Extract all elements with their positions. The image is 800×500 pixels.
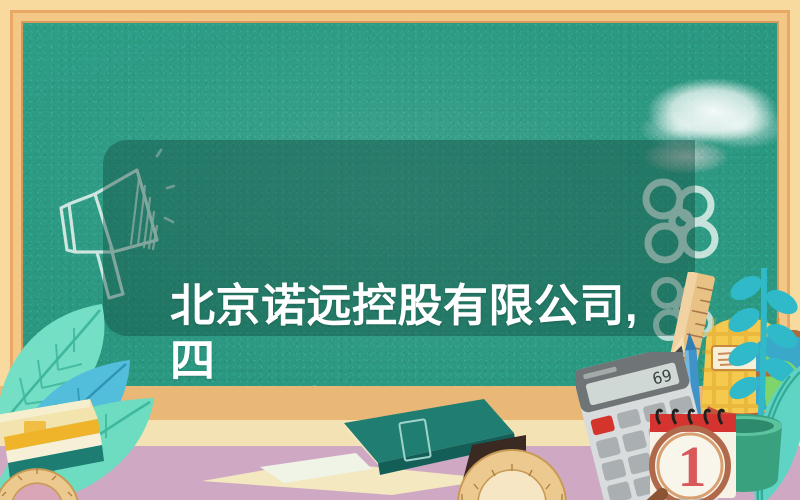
magnifying-glass: 1 (628, 408, 758, 500)
protractor (0, 438, 82, 500)
protractor (452, 430, 572, 500)
banner-image: 北京诺远控股有限公司,四 川久远产投融控股有限公司 (0, 0, 800, 500)
